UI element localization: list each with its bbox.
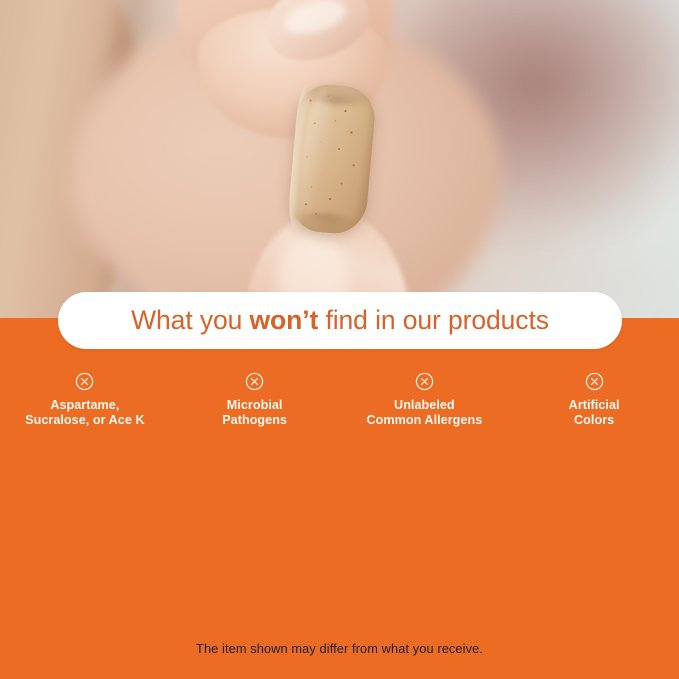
circle-x-icon [585,372,604,391]
supplement-tablet [287,82,378,236]
title-emphasis: won’t [250,305,319,335]
grid-item-label: MicrobialPathogens [222,398,287,429]
grid-item-label: UnlabeledCommon Allergens [366,398,482,429]
disclaimer-note: The item shown may differ from what you … [0,641,679,656]
grid-item: MicrobialPathogens [170,366,340,446]
product-infographic-page: What you won’t find in our products Aspa… [0,0,679,679]
page-title: What you won’t find in our products [131,307,549,334]
grid-item-label: Aspartame,Sucralose, or Ace K [25,398,144,429]
grid-row: Aspartame,Sucralose, or Ace K MicrobialP… [0,366,679,458]
excluded-ingredients-grid: Aspartame,Sucralose, or Ace K MicrobialP… [0,366,679,458]
circle-x-icon [75,372,94,391]
headline-banner: What you won’t find in our products [58,292,622,349]
hand-holding-tablet-photo [0,0,679,318]
grid-item-label: ArtificialColors [569,398,620,429]
title-part-2: find in our products [318,305,549,335]
circle-x-icon [245,372,264,391]
grid-item: ArtificialColors [509,366,679,446]
title-part-1: What you [131,305,249,335]
circle-x-icon [415,372,434,391]
grid-item: Aspartame,Sucralose, or Ace K [0,366,170,446]
grid-item: UnlabeledCommon Allergens [340,366,510,446]
